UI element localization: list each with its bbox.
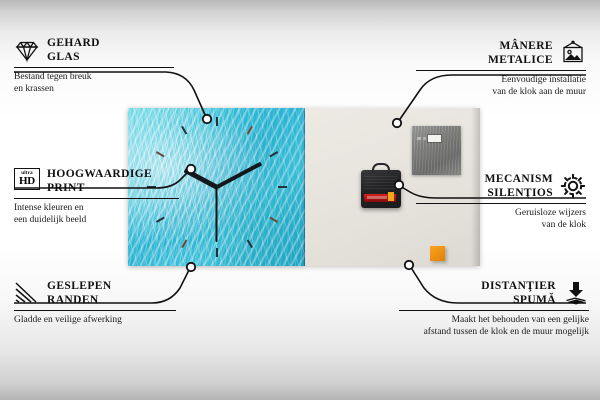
callout-desc-line2: van de klok (416, 219, 586, 231)
callout-title: MÂNERE METALICE (488, 39, 553, 67)
callout-distantier-spuma[interactable]: DISTANŢIER SPUMĂ Maakt het behouden van … (399, 279, 589, 338)
callout-desc-line2: afstand tussen de klok en de muur mogeli… (399, 326, 589, 338)
callout-desc-line1: Gladde en veilige afwerking (14, 314, 176, 326)
diagonal-lines-icon (14, 280, 40, 306)
callout-rule (14, 310, 176, 311)
gear-icon (560, 173, 586, 199)
callout-desc-line2: een duidelijk beeld (14, 214, 179, 226)
picture-frame-icon (560, 40, 586, 66)
clock-tick (217, 186, 287, 188)
callout-header: MECANISM SILENŢIOS (416, 172, 586, 200)
metal-hanger-plate (412, 126, 461, 175)
callout-header: GEHARD GLAS (14, 36, 174, 64)
hanger-hole-b (423, 137, 426, 140)
callout-rule (399, 310, 589, 311)
callout-header: ultra HD HOOGWAARDIGE PRINT (14, 167, 179, 195)
mechanism-hanger-loop (372, 163, 390, 173)
clock-tick (216, 117, 218, 187)
callout-rule (14, 198, 179, 199)
callout-manere-metalice[interactable]: MÂNERE METALICE Eenvoudige installatie v… (416, 39, 586, 98)
ultra-hd-icon-main-text: HD (19, 176, 35, 187)
callout-desc-line1: Geruisloze wijzers (416, 207, 586, 219)
clock-mechanism (361, 170, 401, 208)
callout-hoogwaardige-print[interactable]: ultra HD HOOGWAARDIGE PRINT Intense kleu… (14, 167, 179, 226)
callout-geslepen-randen[interactable]: GESLEPEN RANDEN Gladde en veilige afwerk… (14, 279, 176, 326)
callout-header: GESLEPEN RANDEN (14, 279, 176, 307)
diamond-icon (14, 37, 40, 63)
infographic-canvas: GEHARD GLAS Bestand tegen breuk en krass… (0, 0, 600, 400)
callout-header: MÂNERE METALICE (416, 39, 586, 67)
ultra-hd-icon: ultra HD (14, 168, 40, 194)
callout-rule (416, 203, 586, 204)
callout-rule (14, 67, 174, 68)
callout-title: DISTANŢIER SPUMĂ (481, 279, 556, 307)
callout-desc-line2: van de klok aan de muur (416, 86, 586, 98)
callout-desc-line1: Bestand tegen breuk (14, 71, 174, 83)
callout-gehard-glas[interactable]: GEHARD GLAS Bestand tegen breuk en krass… (14, 36, 174, 95)
orange-foam-spacer (430, 246, 445, 261)
callout-rule (416, 70, 586, 71)
aa-battery (364, 194, 396, 202)
hanger-slot (428, 135, 441, 142)
callout-desc-line1: Eenvoudige installatie (416, 74, 586, 86)
callout-title: GEHARD GLAS (47, 36, 100, 64)
callout-mecanism-silentios[interactable]: MECANISM SILENŢIOS Geruisloze wijzers va… (416, 172, 586, 231)
callout-title: HOOGWAARDIGE PRINT (47, 167, 152, 195)
callout-title: MECANISM SILENŢIOS (485, 172, 553, 200)
callout-title: GESLEPEN RANDEN (47, 279, 112, 307)
callout-desc-line1: Intense kleuren en (14, 202, 179, 214)
hanger-hole-a (417, 137, 421, 140)
callout-header: DISTANŢIER SPUMĂ (399, 279, 589, 307)
mechanism-body-detail (365, 176, 397, 190)
callout-desc-line1: Maakt het behouden van een gelijke (399, 314, 589, 326)
callout-desc-line2: en krassen (14, 83, 174, 95)
clock-second-hand (216, 187, 218, 242)
down-arrow-pad-icon (563, 280, 589, 306)
